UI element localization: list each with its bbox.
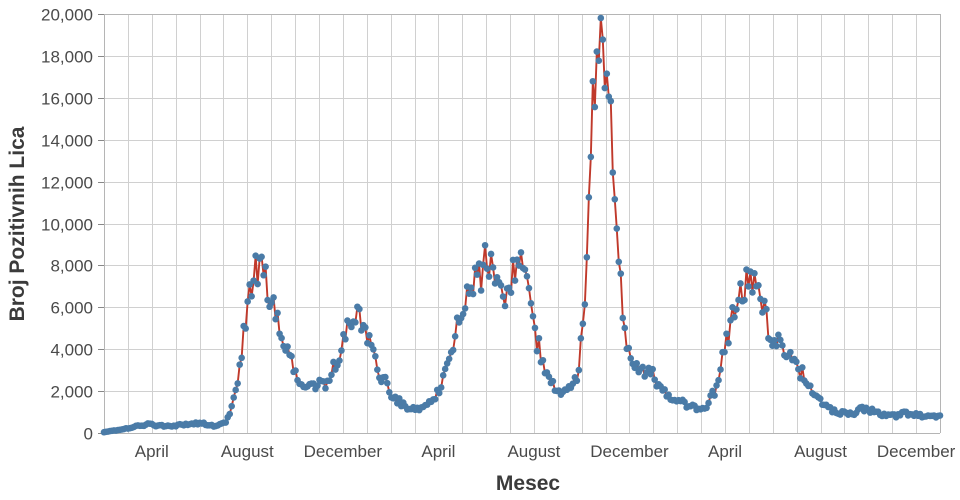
data-point-marker: [262, 263, 269, 270]
data-point-marker: [452, 333, 459, 340]
data-point-marker: [500, 293, 507, 300]
y-tick-label: 18,000: [41, 48, 93, 67]
data-point-marker: [604, 70, 611, 77]
data-point-marker: [580, 320, 587, 327]
data-point-marker: [274, 310, 281, 317]
data-point-markers: [101, 15, 944, 436]
data-point-marker: [787, 349, 794, 356]
chart-container: 02,0004,0006,0008,00010,00012,00014,0001…: [0, 0, 960, 500]
data-point-marker: [725, 340, 732, 347]
data-point-marker: [771, 337, 778, 344]
data-point-marker: [745, 283, 752, 290]
data-point-marker: [592, 104, 599, 111]
data-point-marker: [238, 355, 245, 362]
data-point-marker: [248, 293, 255, 300]
data-point-marker: [615, 258, 622, 265]
x-tick-label: April: [708, 442, 742, 461]
data-point-marker: [482, 242, 489, 249]
y-tick-label: 16,000: [41, 90, 93, 109]
data-point-marker: [625, 345, 632, 352]
x-tick-label: December: [877, 442, 956, 461]
x-tick-label: April: [135, 442, 169, 461]
data-point-marker: [232, 387, 239, 394]
data-point-marker: [382, 374, 389, 381]
data-point-marker: [244, 298, 251, 305]
data-series: [104, 18, 940, 432]
data-point-marker: [230, 394, 237, 401]
data-point-marker: [596, 57, 603, 64]
data-point-marker: [755, 282, 762, 289]
data-point-marker: [574, 377, 581, 384]
x-tick-label: December: [590, 442, 669, 461]
data-point-marker: [661, 386, 668, 393]
data-point-marker: [502, 303, 509, 310]
data-point-marker: [633, 360, 640, 367]
data-point-marker: [609, 169, 616, 176]
data-point-marker: [793, 358, 800, 365]
data-point-marker: [384, 380, 391, 387]
data-point-marker: [582, 301, 589, 308]
data-point-marker: [278, 335, 285, 342]
data-point-marker: [372, 353, 379, 360]
data-point-marker: [617, 270, 624, 277]
data-point-marker: [518, 249, 525, 256]
data-point-marker: [242, 325, 249, 332]
data-point-marker: [322, 385, 329, 392]
data-point-marker: [536, 335, 543, 342]
data-point-marker: [590, 78, 597, 85]
data-point-marker: [292, 367, 299, 374]
data-point-marker: [749, 289, 756, 296]
y-tick-label: 4,000: [50, 341, 93, 360]
y-tick-label: 14,000: [41, 132, 93, 151]
data-point-marker: [338, 347, 345, 354]
data-point-marker: [288, 353, 295, 360]
data-point-marker: [534, 348, 541, 355]
data-point-marker: [602, 85, 609, 92]
data-point-marker: [550, 378, 557, 385]
x-tick-label: August: [507, 442, 560, 461]
y-tick-label: 0: [84, 425, 93, 444]
data-point-marker: [619, 315, 626, 322]
data-point-marker: [484, 265, 491, 272]
data-point-marker: [326, 377, 333, 384]
data-point-marker: [723, 330, 730, 337]
data-point-marker: [512, 277, 519, 284]
gridlines: [104, 14, 941, 434]
data-point-marker: [763, 306, 770, 313]
data-point-marker: [438, 384, 445, 391]
data-point-marker: [761, 298, 768, 305]
data-point-marker: [540, 357, 547, 364]
data-point-marker: [528, 300, 535, 307]
data-point-marker: [284, 343, 291, 350]
data-point-marker: [717, 366, 724, 373]
data-point-marker: [342, 336, 349, 343]
data-point-marker: [470, 291, 477, 298]
data-point-marker: [488, 251, 495, 258]
series-line-broj-pozitivnih-lica: [104, 18, 940, 432]
x-tick-label: December: [304, 442, 383, 461]
data-point-marker: [532, 325, 539, 332]
x-axis-tick-labels: AprilAugustDecemberAprilAugustDecemberAp…: [135, 442, 956, 461]
data-point-marker: [779, 342, 786, 349]
axis-lines: [104, 14, 941, 434]
data-point-marker: [586, 194, 593, 201]
data-point-marker: [450, 347, 457, 354]
data-point-marker: [468, 284, 475, 291]
data-point-marker: [490, 264, 497, 271]
data-point-marker: [627, 355, 634, 362]
data-point-marker: [508, 289, 515, 296]
x-axis-title: Mesec: [496, 472, 561, 495]
data-point-marker: [594, 48, 601, 55]
data-point-marker: [272, 316, 279, 323]
data-point-marker: [799, 364, 806, 371]
data-point-marker: [258, 254, 265, 261]
y-tick-label: 12,000: [41, 174, 93, 193]
data-point-marker: [731, 314, 738, 321]
data-point-marker: [715, 377, 722, 384]
y-tick-label: 6,000: [50, 299, 93, 318]
data-point-marker: [432, 396, 439, 403]
data-point-marker: [478, 287, 485, 294]
data-point-marker: [613, 225, 620, 232]
data-point-marker: [362, 324, 369, 331]
data-point-marker: [486, 273, 493, 280]
data-point-marker: [721, 349, 728, 356]
data-point-marker: [773, 343, 780, 350]
y-tick-label: 10,000: [41, 216, 93, 235]
data-point-marker: [226, 411, 233, 418]
data-point-marker: [711, 392, 718, 399]
data-point-marker: [807, 382, 814, 389]
data-point-marker: [578, 335, 585, 342]
data-point-marker: [576, 367, 583, 374]
data-point-marker: [270, 294, 277, 301]
y-axis-title: Broj Pozitivnih Lica: [6, 126, 29, 321]
data-point-marker: [611, 196, 618, 203]
y-tick-label: 8,000: [50, 257, 93, 276]
data-point-marker: [356, 306, 363, 313]
data-point-marker: [474, 271, 481, 278]
data-point-marker: [260, 272, 267, 279]
y-tick-label: 20,000: [41, 6, 93, 25]
data-point-marker: [600, 36, 607, 43]
data-point-marker: [937, 412, 944, 419]
data-point-marker: [584, 254, 591, 261]
data-point-marker: [526, 285, 533, 292]
data-point-marker: [733, 306, 740, 313]
data-point-marker: [751, 270, 758, 277]
data-point-marker: [436, 390, 443, 397]
data-point-marker: [588, 154, 595, 161]
y-axis-tick-labels: 02,0004,0006,0008,00010,00012,00014,0001…: [41, 6, 104, 444]
data-point-marker: [462, 305, 469, 312]
data-point-marker: [446, 355, 453, 362]
x-tick-label: April: [421, 442, 455, 461]
data-point-marker: [639, 364, 646, 371]
line-chart: 02,0004,0006,0008,00010,00012,00014,0001…: [0, 0, 960, 500]
x-tick-label: August: [221, 442, 274, 461]
data-point-marker: [737, 280, 744, 287]
data-point-marker: [598, 15, 605, 22]
data-point-marker: [649, 366, 656, 373]
data-point-marker: [234, 380, 241, 387]
data-point-marker: [236, 361, 243, 368]
data-point-marker: [498, 282, 505, 289]
data-point-marker: [514, 256, 521, 263]
data-point-marker: [621, 325, 628, 332]
data-point-marker: [530, 313, 537, 320]
data-point-marker: [607, 98, 614, 105]
x-tick-label: August: [794, 442, 847, 461]
data-point-marker: [442, 366, 449, 373]
data-point-marker: [817, 395, 824, 402]
data-point-marker: [460, 311, 467, 318]
data-point-marker: [440, 372, 447, 379]
data-point-marker: [374, 366, 381, 373]
data-point-marker: [366, 332, 373, 339]
data-point-marker: [524, 273, 531, 280]
data-point-marker: [254, 281, 261, 288]
data-point-marker: [336, 357, 343, 364]
data-point-marker: [228, 403, 235, 410]
data-point-marker: [352, 319, 359, 326]
y-tick-label: 2,000: [50, 383, 93, 402]
data-point-marker: [328, 372, 335, 379]
data-point-marker: [370, 346, 377, 353]
data-point-marker: [522, 266, 529, 273]
data-point-marker: [741, 297, 748, 304]
data-point-marker: [705, 400, 712, 407]
